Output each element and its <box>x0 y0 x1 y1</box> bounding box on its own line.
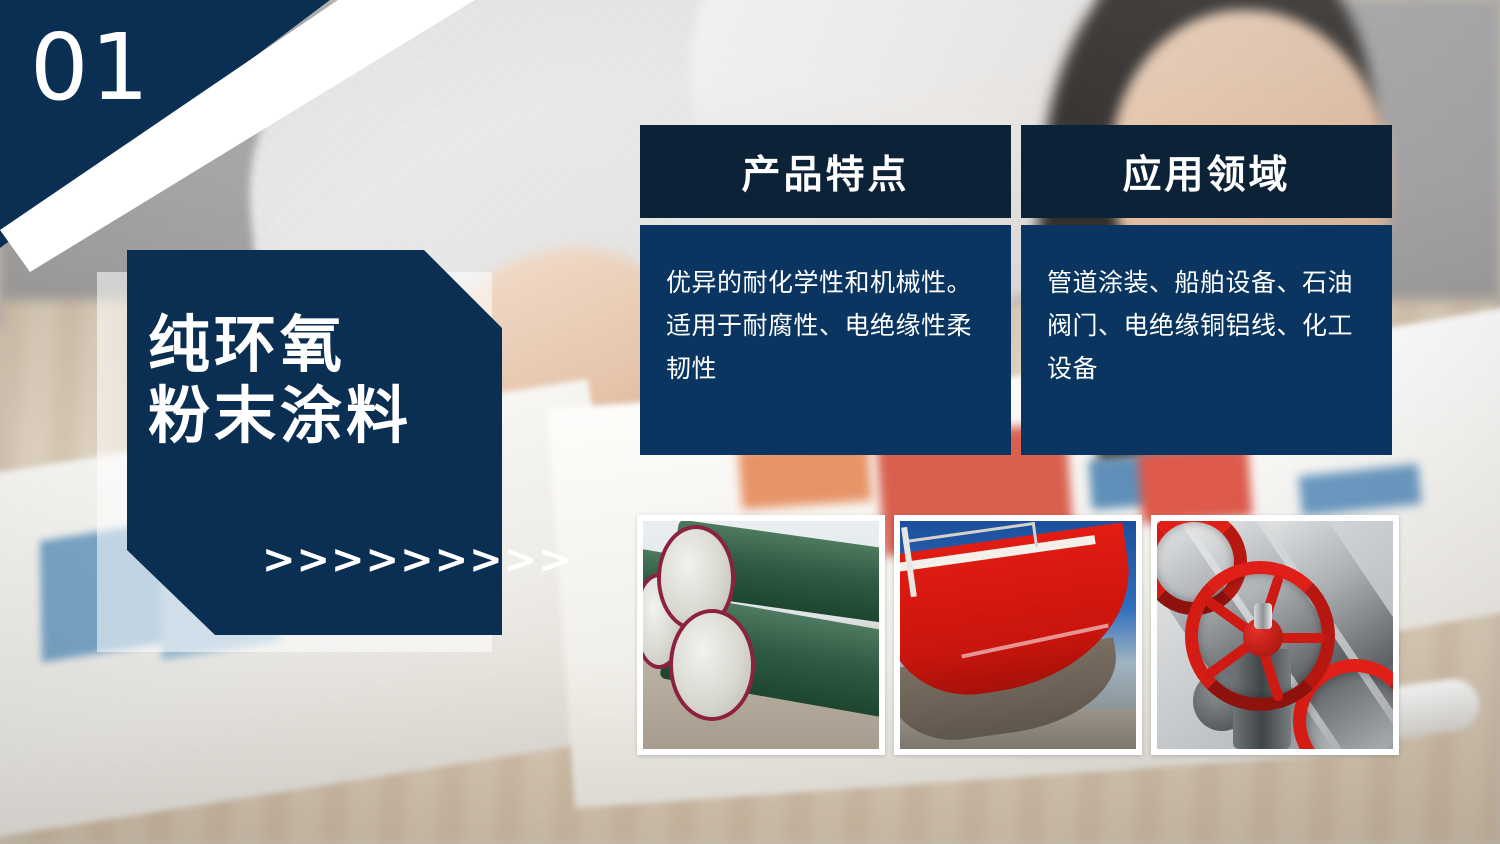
panel-product-features-title: 产品特点 <box>741 144 909 200</box>
chevron-arrows-icon: >>>>>>>>> <box>262 540 492 580</box>
page-title-line-1: 纯环氧 <box>148 310 488 381</box>
panel-application-fields-title: 应用领域 <box>1122 144 1290 200</box>
info-panels: 产品特点 优异的耐化学性和机械性。适用于耐腐性、电绝缘性柔韧性 应用领域 管道涂… <box>640 125 1392 455</box>
panel-product-features-text: 优异的耐化学性和机械性。适用于耐腐性、电绝缘性柔韧性 <box>666 261 985 390</box>
panel-product-features-header: 产品特点 <box>640 125 1011 218</box>
panel-application-fields-body: 管道涂装、船舶设备、石油阀门、电绝缘铜铝线、化工设备 <box>1021 225 1392 455</box>
panel-application-fields-header: 应用领域 <box>1021 125 1392 218</box>
section-number: 01 <box>30 22 151 114</box>
pipe-end-2 <box>673 613 751 717</box>
photo-thumbnail-row <box>637 515 1399 755</box>
panel-product-features: 产品特点 优异的耐化学性和机械性。适用于耐腐性、电绝缘性柔韧性 <box>640 125 1011 455</box>
panel-product-features-body: 优异的耐化学性和机械性。适用于耐腐性、电绝缘性柔韧性 <box>640 225 1011 455</box>
page-title-line-2: 粉末涂料 <box>148 381 488 452</box>
panel-application-fields-text: 管道涂装、船舶设备、石油阀门、电绝缘铜铝线、化工设备 <box>1047 261 1366 390</box>
panel-application-fields: 应用领域 管道涂装、船舶设备、石油阀门、电绝缘铜铝线、化工设备 <box>1021 125 1392 455</box>
valve-stem <box>1254 603 1272 629</box>
red-valve-handwheels-photo <box>1151 515 1399 755</box>
slide-root: 01 纯环氧 粉末涂料 >>>>>>>>> 产品特点 优异的耐化学性和机械性。适… <box>0 0 1500 844</box>
coated-steel-pipes-photo <box>637 515 885 755</box>
red-ship-hull-photo <box>894 515 1142 755</box>
page-title: 纯环氧 粉末涂料 <box>148 310 488 451</box>
pipe-end-1 <box>661 529 731 627</box>
